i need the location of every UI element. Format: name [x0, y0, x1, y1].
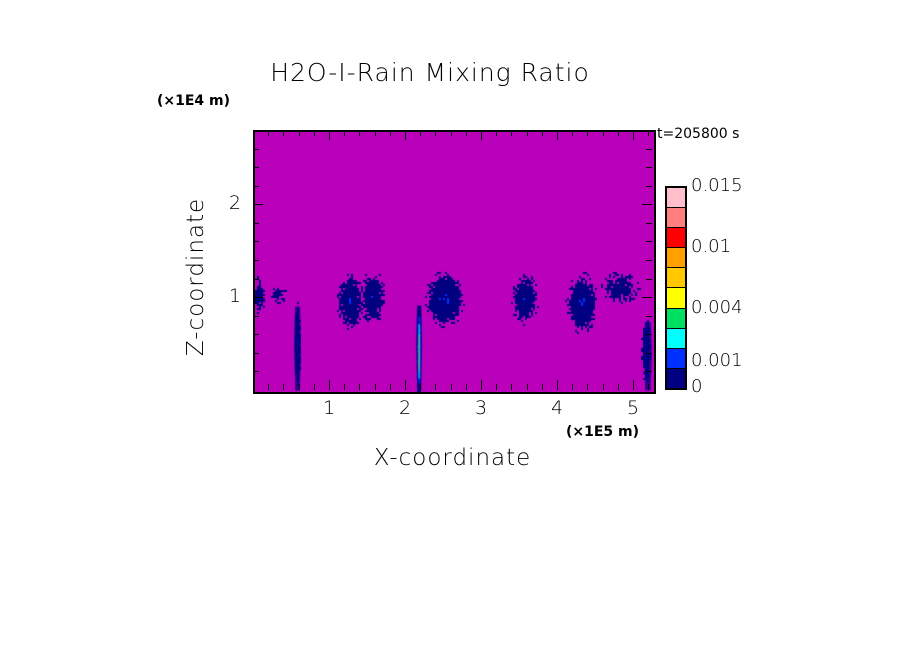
- x-tick-top: [390, 130, 391, 136]
- x-tick-bottom: [344, 384, 345, 390]
- rain-mixing-ratio-heatmap: [255, 132, 654, 392]
- x-tick-top: [405, 130, 406, 140]
- x-tick-bottom: [420, 384, 421, 390]
- page-title: H2O-I-Rain Mixing Ratio: [180, 58, 680, 87]
- x-tick-top: [420, 130, 421, 136]
- colorbar-band-gold: [667, 268, 685, 288]
- x-tick-top: [511, 130, 512, 136]
- x-tick-top: [466, 130, 467, 136]
- x-tick-label: 3: [461, 397, 501, 419]
- y-tick-right: [646, 260, 652, 261]
- x-tick-top: [359, 130, 360, 136]
- x-tick-top: [648, 130, 649, 136]
- x-tick-bottom: [527, 384, 528, 390]
- y-tick-left: [253, 260, 259, 261]
- x-tick-top: [527, 130, 528, 136]
- x-tick-top: [557, 130, 558, 140]
- x-tick-top: [451, 130, 452, 136]
- x-tick-top: [603, 130, 604, 136]
- x-tick-bottom: [572, 384, 573, 390]
- x-tick-top: [572, 130, 573, 136]
- x-tick-bottom: [648, 384, 649, 390]
- colorbar-band-blue: [667, 349, 685, 369]
- x-tick-bottom: [481, 380, 482, 390]
- x-tick-top: [268, 130, 269, 136]
- y-tick-left: [253, 316, 259, 317]
- y-tick-right: [646, 371, 652, 372]
- y-axis-title: Z-coordinate: [184, 172, 208, 382]
- x-tick-bottom: [314, 384, 315, 390]
- x-tick-bottom: [511, 384, 512, 390]
- x-tick-bottom: [466, 384, 467, 390]
- x-tick-top: [314, 130, 315, 136]
- y-tick-right: [646, 316, 652, 317]
- colorbar-band-cyan: [667, 329, 685, 349]
- x-tick-bottom: [633, 380, 634, 390]
- x-tick-bottom: [603, 384, 604, 390]
- x-tick-bottom: [587, 384, 588, 390]
- y-tick-right: [642, 204, 652, 205]
- figure-canvas: H2O-I-Rain Mixing Ratio (×1E4 m) t=20580…: [0, 0, 904, 654]
- colorbar-label: 0: [691, 376, 702, 397]
- y-tick-left: [253, 223, 259, 224]
- y-tick-left: [253, 334, 259, 335]
- y-axis-title-text: Z-coordinate: [183, 198, 209, 356]
- x-tick-top: [496, 130, 497, 136]
- x-tick-bottom: [451, 384, 452, 390]
- y-tick-left: [253, 241, 259, 242]
- x-tick-top: [283, 130, 284, 136]
- x-axis-units-label: (×1E5 m): [566, 424, 639, 440]
- x-tick-bottom: [542, 384, 543, 390]
- z-axis-units-label: (×1E4 m): [157, 93, 230, 109]
- colorbar-band-green: [667, 309, 685, 329]
- x-tick-top: [587, 130, 588, 136]
- y-tick-right: [642, 297, 652, 298]
- x-tick-bottom: [618, 384, 619, 390]
- x-tick-top: [618, 130, 619, 136]
- x-tick-label: 2: [385, 397, 425, 419]
- x-tick-top: [542, 130, 543, 136]
- colorbar-band-yellow: [667, 288, 685, 308]
- x-axis-title: X-coordinate: [253, 445, 652, 471]
- y-tick-right: [646, 353, 652, 354]
- y-tick-left: [253, 371, 259, 372]
- y-tick-right: [646, 241, 652, 242]
- colorbar-legend: [665, 186, 687, 390]
- colorbar-band-salmon: [667, 208, 685, 228]
- x-tick-bottom: [435, 384, 436, 390]
- x-tick-top: [481, 130, 482, 140]
- y-tick-right: [646, 334, 652, 335]
- y-tick-left: [253, 186, 259, 187]
- y-tick-left: [253, 353, 259, 354]
- y-tick-left: [253, 204, 263, 205]
- colorbar-band-red: [667, 228, 685, 248]
- y-tick-right: [646, 149, 652, 150]
- colorbar-band-pink: [667, 188, 685, 208]
- y-tick-right: [646, 167, 652, 168]
- x-tick-bottom: [405, 380, 406, 390]
- colorbar-label: 0.004: [691, 297, 743, 318]
- y-tick-left: [253, 279, 259, 280]
- colorbar-label: 0.001: [691, 350, 743, 371]
- x-tick-bottom: [359, 384, 360, 390]
- plot-area: [253, 130, 656, 394]
- x-tick-bottom: [283, 384, 284, 390]
- x-tick-bottom: [329, 380, 330, 390]
- colorbar-band-navy: [667, 369, 685, 388]
- colorbar-band-orange: [667, 248, 685, 268]
- x-tick-label: 5: [613, 397, 653, 419]
- y-tick-left: [253, 167, 259, 168]
- x-tick-label: 1: [309, 397, 349, 419]
- y-tick-right: [646, 223, 652, 224]
- x-tick-top: [435, 130, 436, 136]
- y-tick-left: [253, 297, 263, 298]
- colorbar-label: 0.01: [691, 236, 731, 257]
- x-tick-label: 4: [537, 397, 577, 419]
- x-tick-bottom: [557, 380, 558, 390]
- x-tick-bottom: [268, 384, 269, 390]
- x-tick-top: [375, 130, 376, 136]
- y-tick-right: [646, 279, 652, 280]
- x-tick-top: [344, 130, 345, 136]
- x-tick-top: [633, 130, 634, 140]
- x-tick-bottom: [375, 384, 376, 390]
- x-tick-top: [329, 130, 330, 140]
- x-tick-bottom: [299, 384, 300, 390]
- y-tick-right: [646, 186, 652, 187]
- x-tick-top: [299, 130, 300, 136]
- colorbar-label: 0.015: [691, 175, 743, 196]
- x-tick-bottom: [496, 384, 497, 390]
- x-tick-bottom: [390, 384, 391, 390]
- y-tick-left: [253, 149, 259, 150]
- time-annotation: t=205800 s: [657, 126, 739, 142]
